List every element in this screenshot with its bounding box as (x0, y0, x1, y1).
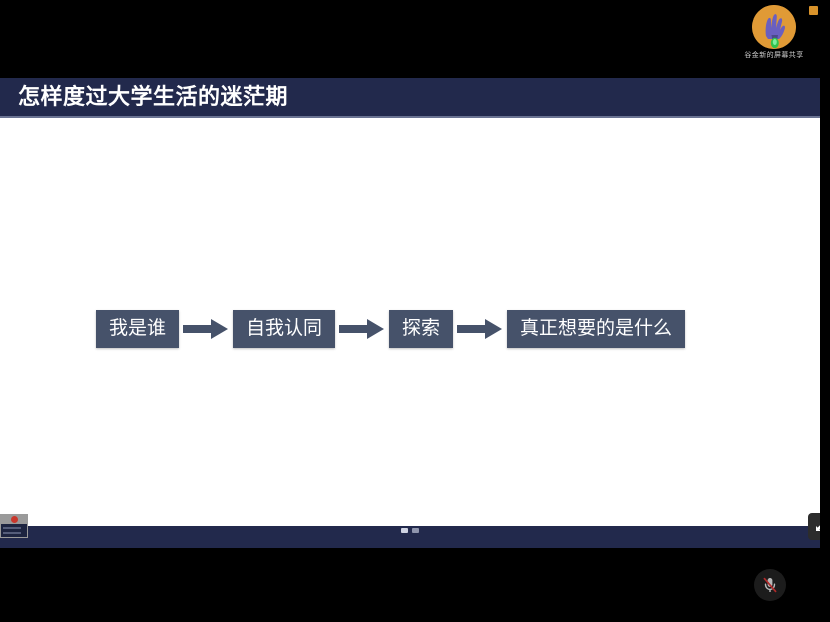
flow-step-3: 探索 (389, 310, 453, 348)
toolbar-drag-handle[interactable] (397, 527, 423, 534)
slide-title-bar: 怎样度过大学生活的迷茫期 (0, 78, 820, 118)
slide-toolbar (0, 526, 820, 548)
resize-button[interactable] (808, 513, 820, 540)
top-bar: 谷金新的屏幕共享 (0, 0, 830, 78)
slide-body: 我是谁 自我认同 探索 (0, 120, 820, 526)
arrow-right-icon (179, 315, 233, 343)
flow-diagram: 我是谁 自我认同 探索 (96, 310, 685, 348)
arrow-right-icon (335, 315, 389, 343)
flow-step-1: 我是谁 (96, 310, 179, 348)
presenter-tile[interactable]: 谷金新的屏幕共享 (726, 5, 822, 59)
screen-share-viewer: 谷金新的屏幕共享 怎样度过大学生活的迷茫期 我是谁 自我认同 (0, 0, 830, 622)
presenter-name-label: 谷金新的屏幕共享 (744, 52, 803, 59)
avatar (752, 5, 796, 49)
flow-step-4: 真正想要的是什么 (507, 310, 685, 348)
flow-step-2: 自我认同 (233, 310, 335, 348)
page-title: 怎样度过大学生活的迷茫期 (18, 87, 288, 109)
recording-dot-icon (11, 516, 18, 523)
thumbnail-rows (1, 524, 27, 537)
slide-thumbnail-panel-icon[interactable] (0, 514, 28, 538)
bottom-bar (0, 548, 830, 622)
shared-slide: 怎样度过大学生活的迷茫期 我是谁 自我认同 探索 (0, 78, 820, 548)
microphone-muted-button[interactable] (754, 569, 786, 601)
arrow-right-icon (453, 315, 507, 343)
